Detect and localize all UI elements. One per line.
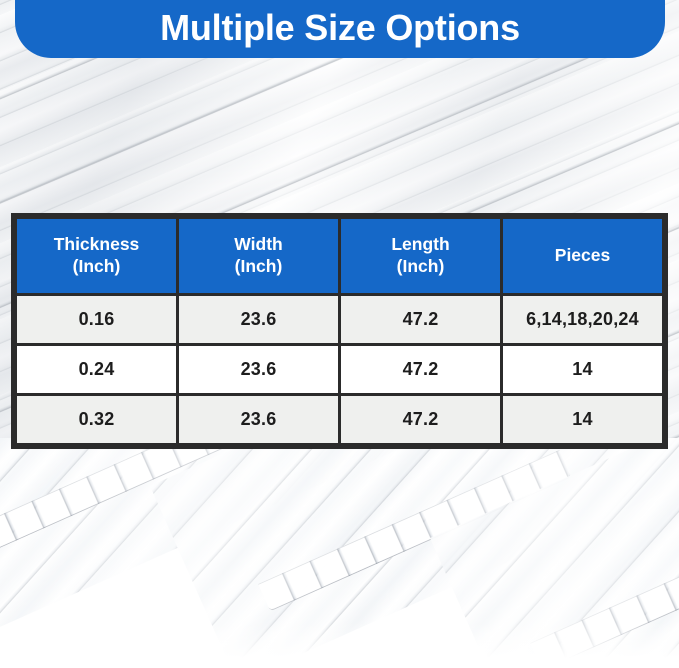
column-header-thickness-line2: (Inch) xyxy=(18,256,175,278)
column-header-length-line2: (Inch) xyxy=(342,256,499,278)
column-header-pieces: Pieces xyxy=(502,218,664,295)
cell-width: 23.6 xyxy=(178,295,340,345)
table-row: 0.24 23.6 47.2 14 xyxy=(16,345,664,395)
cell-pieces: 6,14,18,20,24 xyxy=(502,295,664,345)
column-header-length-line1: Length xyxy=(391,234,449,254)
cell-thickness: 0.16 xyxy=(16,295,178,345)
cell-length: 47.2 xyxy=(340,395,502,445)
table-header: Thickness (Inch) Width (Inch) Length (In… xyxy=(16,218,664,295)
headline-title: Multiple Size Options xyxy=(160,10,520,54)
column-header-length: Length (Inch) xyxy=(340,218,502,295)
column-header-width: Width (Inch) xyxy=(178,218,340,295)
cell-length: 47.2 xyxy=(340,345,502,395)
cell-width: 23.6 xyxy=(178,395,340,445)
product-infographic: Multiple Size Options Thickness (Inch) W… xyxy=(0,0,679,668)
headline-banner: Multiple Size Options xyxy=(15,0,665,58)
size-options-table: Thickness (Inch) Width (Inch) Length (In… xyxy=(14,216,665,446)
cell-pieces: 14 xyxy=(502,345,664,395)
column-header-width-line1: Width xyxy=(234,234,282,254)
table-row: 0.16 23.6 47.2 6,14,18,20,24 xyxy=(16,295,664,345)
cell-width: 23.6 xyxy=(178,345,340,395)
stacked-sheet-panels xyxy=(0,438,679,668)
column-header-pieces-line1: Pieces xyxy=(555,245,610,265)
cell-pieces: 14 xyxy=(502,395,664,445)
cell-thickness: 0.32 xyxy=(16,395,178,445)
table-body: 0.16 23.6 47.2 6,14,18,20,24 0.24 23.6 4… xyxy=(16,295,664,445)
column-header-width-line2: (Inch) xyxy=(180,256,337,278)
cell-length: 47.2 xyxy=(340,295,502,345)
cell-thickness: 0.24 xyxy=(16,345,178,395)
column-header-thickness-line1: Thickness xyxy=(54,234,140,254)
column-header-thickness: Thickness (Inch) xyxy=(16,218,178,295)
table-row: 0.32 23.6 47.2 14 xyxy=(16,395,664,445)
table-header-row: Thickness (Inch) Width (Inch) Length (In… xyxy=(16,218,664,295)
